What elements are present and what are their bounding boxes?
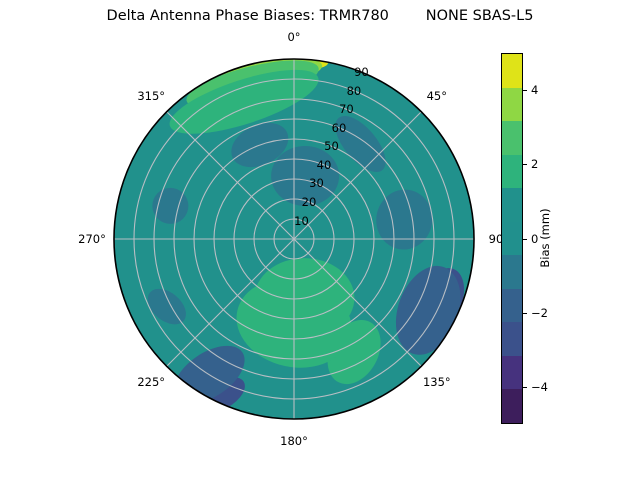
polar-contour-plot <box>113 52 475 426</box>
radial-tick-label-70: 70 <box>339 102 354 116</box>
colorbar-band <box>502 121 522 155</box>
radial-tick-label-40: 40 <box>317 158 332 172</box>
polar-axes: 102030405060708090 0°45°90135°180°225°27… <box>113 52 475 426</box>
colorbar-band <box>502 88 522 122</box>
radial-tick-label-80: 80 <box>347 84 362 98</box>
angular-tick-label-180: 180° <box>280 434 308 448</box>
colorbar-tick-label--4: −4 <box>531 380 548 394</box>
angular-tick-label-315: 315° <box>137 89 165 103</box>
colorbar-tick-mark <box>523 239 527 240</box>
colorbar-tick-mark <box>523 164 527 165</box>
radial-tick-label-90: 90 <box>354 65 369 79</box>
colorbar-tick-mark <box>523 90 527 91</box>
colorbar-band <box>502 356 522 390</box>
matplotlib-figure: Delta Antenna Phase Biases: TRMR780 NONE… <box>0 0 640 480</box>
polar-grid <box>114 59 474 419</box>
colorbar-axis-label: Bias (mm) <box>538 208 552 267</box>
colorbar-band <box>502 322 522 356</box>
colorbar-tick-label-4: 4 <box>531 83 538 97</box>
colorbar-band <box>502 222 522 256</box>
radial-tick-label-60: 60 <box>332 121 347 135</box>
colorbar-band <box>502 255 522 289</box>
radial-tick-label-20: 20 <box>302 195 317 209</box>
colorbar <box>501 53 523 424</box>
radial-tick-label-30: 30 <box>309 176 324 190</box>
angular-tick-label-135: 135° <box>423 375 451 389</box>
colorbar-band <box>502 289 522 323</box>
colorbar-tick-mark <box>523 387 527 388</box>
angular-tick-label-225: 225° <box>137 375 165 389</box>
angular-tick-label-45: 45° <box>427 89 447 103</box>
angular-tick-label-0: 0° <box>287 30 300 44</box>
colorbar-band <box>502 155 522 189</box>
colorbar-tick-label-2: 2 <box>531 157 538 171</box>
radial-tick-label-50: 50 <box>324 139 339 153</box>
radial-tick-label-10: 10 <box>294 214 309 228</box>
colorbar-band <box>502 188 522 222</box>
colorbar-band <box>502 389 522 423</box>
colorbar-tick-label--2: −2 <box>531 306 548 320</box>
page-title: Delta Antenna Phase Biases: TRMR780 NONE… <box>0 8 640 24</box>
angular-tick-label-270: 270° <box>78 232 106 246</box>
colorbar-tick-mark <box>523 313 527 314</box>
colorbar-band <box>502 54 522 88</box>
